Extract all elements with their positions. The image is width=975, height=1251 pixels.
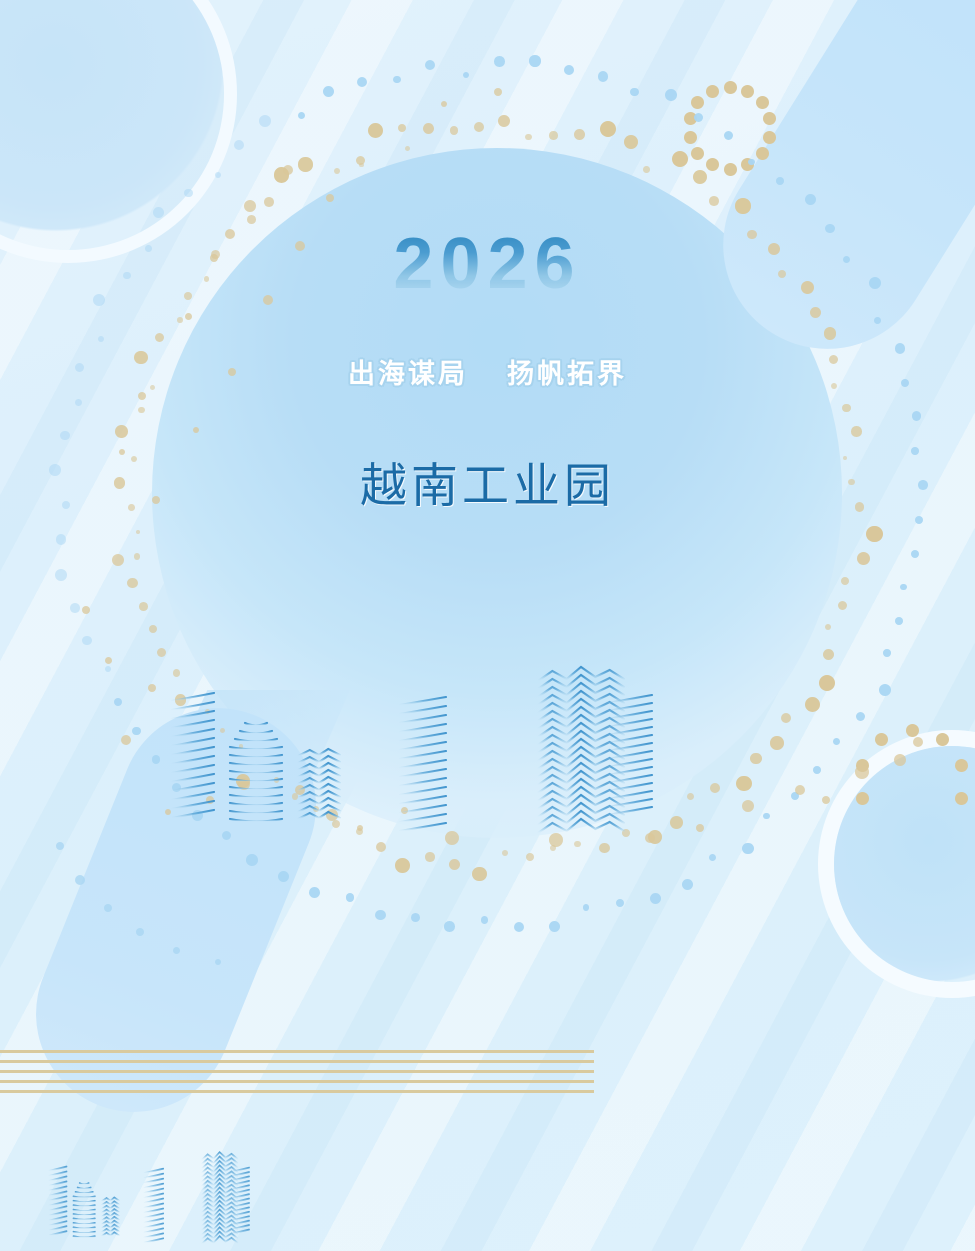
building-line bbox=[202, 1183, 238, 1191]
gold-dot bbox=[756, 96, 769, 109]
gold-dot bbox=[693, 170, 707, 184]
blue-dot bbox=[900, 584, 906, 590]
building-line bbox=[73, 1210, 95, 1211]
gold-dot bbox=[274, 777, 279, 782]
gold-dot bbox=[298, 157, 312, 171]
gold-dot bbox=[691, 147, 704, 160]
gold-dot bbox=[823, 649, 834, 660]
gold-dot bbox=[283, 165, 293, 175]
building-line bbox=[144, 1184, 163, 1188]
gold-dot bbox=[838, 601, 847, 610]
building-line bbox=[231, 1168, 249, 1172]
building-line bbox=[102, 1197, 119, 1201]
building-line bbox=[202, 1165, 238, 1173]
gold-dot bbox=[425, 852, 434, 861]
blue-dot bbox=[776, 177, 784, 185]
gold-dot bbox=[138, 392, 146, 400]
gold-dot bbox=[105, 657, 112, 664]
building-line bbox=[73, 1223, 95, 1224]
building-line bbox=[144, 1204, 163, 1208]
blue-dot bbox=[598, 71, 608, 81]
blue-dot bbox=[425, 60, 436, 71]
gold-dot bbox=[526, 853, 534, 861]
building-line bbox=[202, 1157, 238, 1165]
blue-dot bbox=[514, 922, 524, 932]
building-line bbox=[202, 1218, 238, 1226]
gold-dot bbox=[401, 807, 408, 814]
building-line bbox=[144, 1214, 163, 1218]
gold-dot bbox=[175, 694, 187, 706]
gold-dot bbox=[423, 123, 434, 134]
building-line bbox=[73, 1205, 95, 1206]
blue-dot bbox=[856, 712, 865, 721]
gold-dot bbox=[449, 859, 460, 870]
gold-dot bbox=[494, 88, 502, 96]
building-line bbox=[144, 1169, 163, 1173]
gold-dot bbox=[177, 317, 182, 322]
gold-dot bbox=[134, 553, 140, 559]
building-line bbox=[102, 1228, 119, 1232]
building-line bbox=[144, 1223, 163, 1227]
gold-dot bbox=[599, 843, 610, 854]
blue-dot bbox=[75, 399, 82, 406]
blue-dot bbox=[682, 879, 693, 890]
blue-dot bbox=[346, 893, 354, 901]
gold-dot bbox=[332, 820, 340, 828]
gold-dot bbox=[295, 785, 305, 795]
building-line bbox=[231, 1190, 249, 1194]
gold-dot bbox=[334, 168, 340, 174]
gold-dot bbox=[112, 554, 124, 566]
building-line bbox=[49, 1186, 66, 1190]
gold-dot bbox=[450, 126, 459, 135]
building-line bbox=[231, 1212, 249, 1216]
blue-dot bbox=[234, 140, 244, 150]
building-line bbox=[202, 1232, 238, 1240]
gold-dot bbox=[851, 426, 861, 436]
blue-dot bbox=[82, 636, 91, 645]
building-line bbox=[102, 1225, 119, 1229]
gold-dot bbox=[357, 825, 363, 831]
gold-dot bbox=[149, 625, 157, 633]
building-line bbox=[231, 1185, 249, 1189]
building-line bbox=[49, 1201, 66, 1205]
building-line bbox=[49, 1221, 66, 1225]
building-line bbox=[202, 1205, 238, 1213]
blue-dot bbox=[132, 727, 140, 735]
blue-dot bbox=[874, 317, 881, 324]
building-line bbox=[202, 1196, 238, 1204]
building-line bbox=[73, 1227, 95, 1228]
gold-dot bbox=[763, 112, 776, 125]
building-line bbox=[75, 1192, 93, 1193]
gold-rule-lines bbox=[0, 1050, 594, 1094]
building-line bbox=[202, 1236, 238, 1244]
gold-dot bbox=[684, 131, 697, 144]
blue-dot bbox=[694, 113, 703, 122]
blue-dot bbox=[70, 603, 80, 613]
gold-dot bbox=[238, 778, 250, 790]
building-line bbox=[144, 1218, 163, 1222]
gold-dot bbox=[622, 829, 630, 837]
gold-dot bbox=[139, 602, 148, 611]
gold-dot bbox=[525, 134, 531, 140]
blue-dot bbox=[309, 887, 320, 898]
gold-dot bbox=[906, 724, 919, 737]
gold-dot bbox=[376, 842, 386, 852]
gold-dot bbox=[165, 809, 171, 815]
blue-dot bbox=[549, 921, 560, 932]
gold-dot bbox=[574, 129, 585, 140]
gold-dot bbox=[127, 578, 137, 588]
building-line bbox=[202, 1223, 238, 1231]
gold-dot bbox=[736, 776, 752, 792]
gold-dot bbox=[750, 753, 762, 765]
building-line bbox=[102, 1232, 119, 1236]
blue-dot bbox=[630, 88, 638, 96]
building-line bbox=[231, 1203, 249, 1207]
gold-dot bbox=[82, 606, 90, 614]
gold-dot bbox=[735, 198, 751, 214]
gold-dot bbox=[313, 806, 319, 812]
blue-dot bbox=[60, 431, 70, 441]
gold-dot bbox=[709, 196, 719, 206]
blue-dot bbox=[911, 550, 919, 558]
building-line bbox=[102, 1201, 119, 1205]
building-line bbox=[202, 1227, 238, 1235]
blue-dot bbox=[742, 843, 753, 854]
building-line bbox=[73, 1201, 95, 1202]
blue-dot bbox=[912, 411, 922, 421]
blue-dot bbox=[114, 698, 122, 706]
blue-dot bbox=[665, 89, 677, 101]
building-line bbox=[202, 1214, 238, 1222]
building-line bbox=[144, 1209, 163, 1213]
blue-dot bbox=[298, 112, 305, 119]
rule-line bbox=[0, 1080, 594, 1083]
blue-dot bbox=[375, 910, 386, 921]
gold-dot bbox=[825, 624, 832, 631]
blue-dot bbox=[323, 86, 334, 97]
gold-dot bbox=[244, 200, 256, 212]
blue-dot bbox=[105, 666, 111, 672]
blue-dot bbox=[55, 569, 67, 581]
building-line bbox=[80, 1183, 89, 1184]
poster-main-title: 越南工业园 bbox=[0, 447, 975, 516]
building-line bbox=[49, 1191, 66, 1195]
gold-dot bbox=[498, 115, 510, 127]
gold-dot bbox=[687, 793, 694, 800]
building-line bbox=[73, 1214, 95, 1215]
building-line bbox=[73, 1236, 95, 1237]
blue-dot bbox=[411, 913, 420, 922]
building-line bbox=[102, 1205, 119, 1209]
gold-dot bbox=[356, 156, 365, 165]
building-line bbox=[144, 1174, 163, 1178]
gold-dot bbox=[742, 800, 754, 812]
blue-dot bbox=[915, 516, 923, 524]
building-line bbox=[231, 1176, 249, 1180]
building-line bbox=[49, 1216, 66, 1220]
building-line bbox=[202, 1210, 238, 1218]
blue-dot bbox=[152, 755, 160, 763]
gold-dot bbox=[670, 816, 683, 829]
blue-dot bbox=[583, 904, 590, 911]
gold-dot bbox=[549, 833, 563, 847]
rule-line bbox=[0, 1090, 594, 1093]
gold-dot bbox=[866, 526, 882, 542]
building-line bbox=[49, 1196, 66, 1200]
blue-dot bbox=[184, 189, 193, 198]
gold-dot bbox=[955, 792, 968, 805]
gold-dot bbox=[672, 151, 688, 167]
gold-dot bbox=[472, 867, 486, 881]
building-line bbox=[144, 1179, 163, 1183]
building-line bbox=[202, 1201, 238, 1209]
gold-dot bbox=[819, 675, 835, 691]
building-line bbox=[231, 1225, 249, 1229]
building-line bbox=[231, 1230, 249, 1234]
gold-dot bbox=[395, 858, 410, 873]
blue-dot bbox=[215, 959, 221, 965]
gold-dot bbox=[645, 833, 655, 843]
building-line bbox=[49, 1176, 66, 1180]
rule-line bbox=[0, 1050, 594, 1053]
ring-bottom-right-decoration bbox=[834, 746, 975, 982]
gold-dot bbox=[206, 796, 214, 804]
building-line bbox=[49, 1172, 66, 1176]
gold-dot bbox=[600, 121, 616, 137]
building-line bbox=[231, 1194, 249, 1198]
gold-dot bbox=[247, 215, 256, 224]
blue-dot bbox=[813, 766, 821, 774]
poster-year: 2026 bbox=[0, 228, 975, 300]
gold-dot bbox=[155, 333, 165, 343]
blue-dot bbox=[833, 738, 840, 745]
gold-dot bbox=[841, 577, 849, 585]
gold-dot bbox=[822, 796, 830, 804]
blue-dot bbox=[56, 842, 64, 850]
blue-dot bbox=[724, 131, 733, 140]
building-line bbox=[49, 1181, 66, 1185]
building-line bbox=[49, 1167, 66, 1171]
gold-dot bbox=[368, 123, 383, 138]
gold-dot bbox=[326, 809, 338, 821]
gold-dot bbox=[173, 669, 180, 676]
poster-canvas: 2026 出海谋局 扬帆拓界 越南工业园 bbox=[0, 0, 975, 1251]
building-line bbox=[202, 1161, 238, 1169]
blue-dot bbox=[748, 159, 755, 166]
blue-dot bbox=[529, 55, 540, 66]
blue-dot bbox=[883, 649, 891, 657]
gold-dot bbox=[574, 841, 580, 847]
building-line bbox=[144, 1194, 163, 1198]
poster-subtitle-part-1: 出海谋局 bbox=[348, 359, 468, 389]
blue-dot bbox=[564, 65, 574, 75]
gold-dot bbox=[936, 733, 949, 746]
gold-dot bbox=[770, 736, 784, 750]
gold-dot bbox=[121, 735, 131, 745]
gold-dot bbox=[474, 122, 484, 132]
blue-dot bbox=[357, 77, 367, 87]
gold-dot bbox=[856, 792, 869, 805]
building-line bbox=[144, 1199, 163, 1203]
blue-dot bbox=[444, 921, 455, 932]
gold-dot bbox=[875, 733, 888, 746]
blue-dot bbox=[616, 899, 624, 907]
gold-dot bbox=[502, 850, 508, 856]
gold-dot bbox=[710, 783, 720, 793]
gold-dot bbox=[855, 765, 869, 779]
gold-dot bbox=[894, 754, 906, 766]
blue-dot bbox=[136, 928, 144, 936]
gold-dot bbox=[741, 85, 754, 98]
gold-dot bbox=[185, 313, 192, 320]
building-line bbox=[202, 1170, 238, 1178]
gold-dot bbox=[193, 427, 199, 433]
building-line bbox=[144, 1233, 163, 1237]
gold-dot bbox=[691, 96, 704, 109]
building-line bbox=[202, 1188, 238, 1196]
gold-dot bbox=[805, 697, 820, 712]
gold-dot bbox=[445, 831, 459, 845]
building-line bbox=[202, 1152, 238, 1160]
gold-dot bbox=[795, 785, 805, 795]
gold-dot bbox=[857, 552, 870, 565]
building-line bbox=[231, 1207, 249, 1211]
gold-dot bbox=[913, 737, 923, 747]
building-line bbox=[202, 1174, 238, 1182]
blue-dot bbox=[763, 813, 770, 820]
building-line bbox=[231, 1216, 249, 1220]
blue-dot bbox=[481, 916, 488, 923]
gold-dot bbox=[441, 101, 447, 107]
building-line bbox=[202, 1179, 238, 1187]
blue-dot bbox=[895, 617, 903, 625]
gold-dot bbox=[549, 131, 557, 139]
blue-dot bbox=[75, 875, 85, 885]
building-line bbox=[73, 1218, 95, 1219]
blue-dot bbox=[259, 115, 271, 127]
gold-dot bbox=[756, 147, 769, 160]
building-line bbox=[231, 1199, 249, 1203]
blue-dot bbox=[246, 854, 258, 866]
blue-dot bbox=[98, 336, 104, 342]
building-line bbox=[73, 1196, 95, 1197]
skyline-mini-illustration bbox=[40, 1140, 290, 1245]
poster-subtitle: 出海谋局 扬帆拓界 bbox=[0, 352, 975, 391]
gold-dot bbox=[148, 684, 156, 692]
blue-dot bbox=[215, 172, 221, 178]
building-line bbox=[102, 1209, 119, 1213]
gold-dot bbox=[824, 327, 836, 339]
gold-dot bbox=[326, 194, 334, 202]
building-line bbox=[144, 1238, 163, 1242]
blue-dot bbox=[173, 947, 180, 954]
building-line bbox=[102, 1221, 119, 1225]
gold-dot bbox=[706, 85, 719, 98]
gold-dot bbox=[405, 146, 410, 151]
rule-line bbox=[0, 1070, 594, 1073]
building-line bbox=[144, 1189, 163, 1193]
blue-dot bbox=[393, 76, 401, 84]
gold-dot bbox=[724, 81, 737, 94]
gold-dot bbox=[264, 197, 274, 207]
gold-dot bbox=[781, 713, 791, 723]
building-line bbox=[231, 1221, 249, 1225]
gold-dot bbox=[398, 124, 406, 132]
gold-dot bbox=[136, 530, 141, 535]
blue-dot bbox=[650, 893, 661, 904]
building-line bbox=[102, 1217, 119, 1221]
building-line bbox=[73, 1232, 95, 1233]
blue-dot bbox=[494, 56, 505, 67]
building-line bbox=[231, 1172, 249, 1176]
blue-dot bbox=[104, 904, 112, 912]
poster-subtitle-part-2: 扬帆拓界 bbox=[507, 359, 627, 389]
building-line bbox=[231, 1181, 249, 1185]
building-line bbox=[144, 1228, 163, 1232]
gold-dot bbox=[157, 648, 166, 657]
gold-dot bbox=[138, 407, 145, 414]
blue-dot bbox=[709, 854, 716, 861]
blue-dot bbox=[463, 72, 469, 78]
rule-line bbox=[0, 1060, 594, 1063]
building-line bbox=[102, 1213, 119, 1217]
blue-dot bbox=[278, 871, 289, 882]
building-line bbox=[202, 1192, 238, 1200]
gold-dot bbox=[706, 158, 719, 171]
blue-dot bbox=[879, 684, 891, 696]
gold-dot bbox=[842, 404, 850, 412]
building-line bbox=[49, 1231, 66, 1235]
gold-dot bbox=[696, 824, 704, 832]
ring-top-left-decoration bbox=[0, 0, 224, 250]
blue-dot bbox=[56, 534, 66, 544]
building-line bbox=[49, 1211, 66, 1215]
gold-dot bbox=[624, 135, 638, 149]
gold-dot bbox=[724, 163, 737, 176]
building-line bbox=[49, 1226, 66, 1230]
building-line bbox=[78, 1188, 91, 1189]
gold-dot bbox=[115, 425, 128, 438]
gold-dot bbox=[643, 166, 650, 173]
building-line bbox=[49, 1206, 66, 1210]
